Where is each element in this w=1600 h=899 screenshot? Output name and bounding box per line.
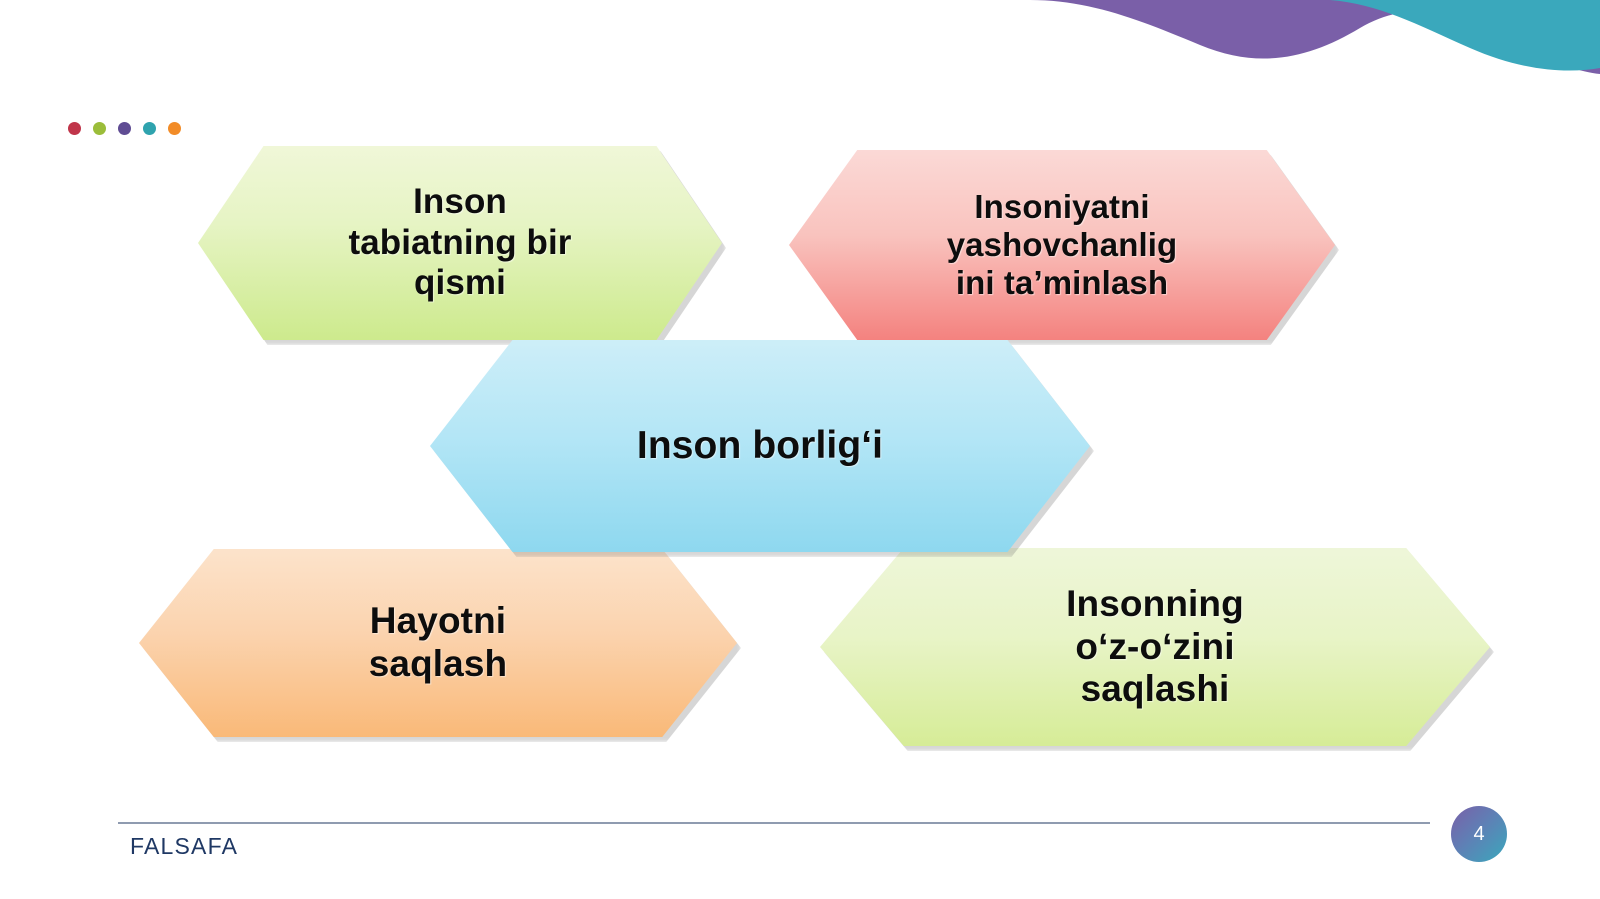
footer-divider	[118, 822, 1430, 824]
slide-canvas: Inson tabiatning bir qismi Insoniyatni y…	[0, 0, 1600, 899]
diagram-node-insonning-oz-ozini-saqlashi[interactable]: Insonning o‘z-o‘zini saqlashi	[820, 548, 1490, 746]
diagram-node-label: Insoniyatni yashovchanlig ini ta’minlash	[939, 188, 1186, 303]
diagram-node-label: Insonning o‘z-o‘zini saqlashi	[1058, 583, 1252, 712]
diagram-node-label: Inson tabiatning bir qismi	[340, 182, 579, 304]
teal-blob-shape	[1330, 0, 1600, 71]
dot-purple-icon	[118, 122, 131, 135]
page-number-badge: 4	[1451, 806, 1507, 862]
footer-label: FALSAFA	[130, 833, 238, 860]
dot-crimson-icon	[68, 122, 81, 135]
diagram-node-label: Hayotni saqlash	[361, 600, 516, 686]
diagram-node-insoniyatni-yashovchanligini-taminlash[interactable]: Insoniyatni yashovchanlig ini ta’minlash	[789, 150, 1335, 340]
page-number-text: 4	[1473, 823, 1484, 846]
diagram-node-hayotni-saqlash[interactable]: Hayotni saqlash	[139, 549, 737, 737]
dot-green-icon	[93, 122, 106, 135]
corner-decoration	[1000, 0, 1600, 90]
dot-teal-icon	[143, 122, 156, 135]
diagram-center-label: Inson borlig‘i	[629, 423, 891, 468]
diagram-node-inson-borligi[interactable]: Inson borlig‘i	[430, 340, 1090, 552]
diagram-node-inson-tabiatning-bir-qismi[interactable]: Inson tabiatning bir qismi	[198, 146, 722, 340]
purple-blob-shape	[1030, 0, 1600, 74]
dot-orange-icon	[168, 122, 181, 135]
dot-row-decoration	[68, 122, 181, 135]
